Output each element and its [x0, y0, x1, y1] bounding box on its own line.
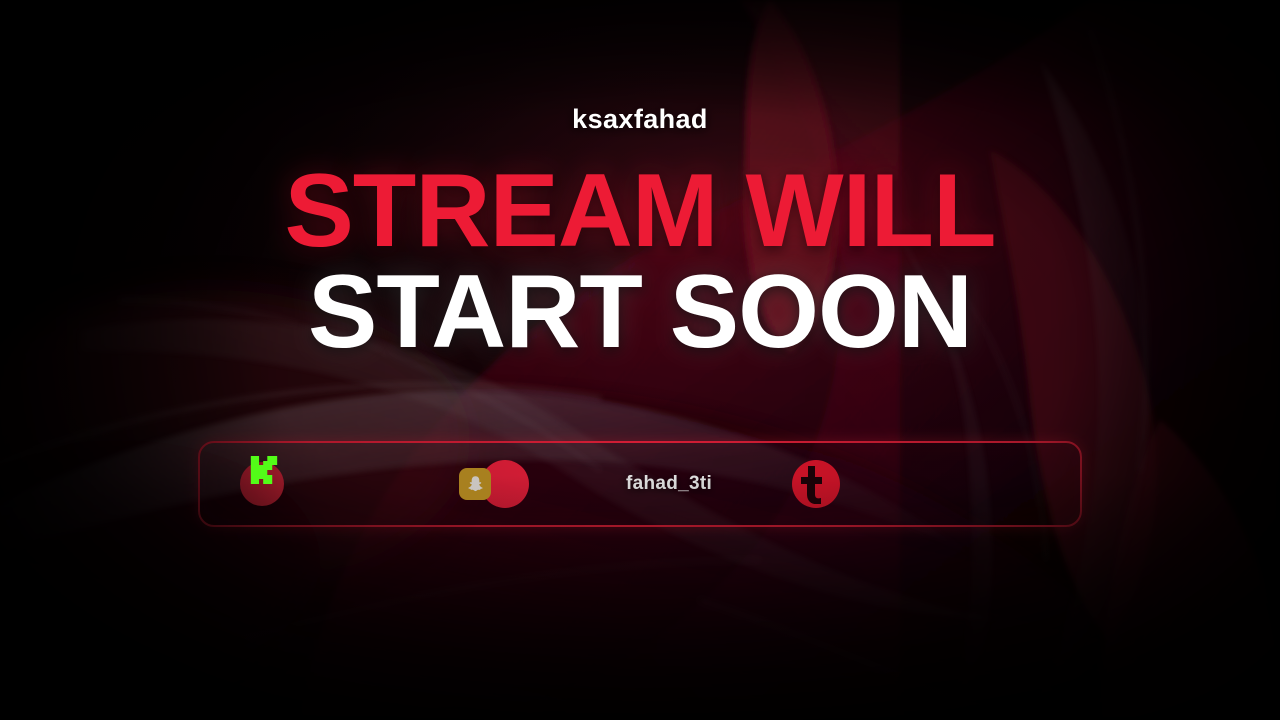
headline-line-1: STREAM WILL — [284, 163, 995, 260]
overlay-content: ksaxfahad STREAM WILL START SOON — [0, 0, 1280, 720]
stream-starting-soon-overlay: ksaxfahad STREAM WILL START SOON — [0, 0, 1280, 720]
page-title: STREAM WILL START SOON — [284, 163, 995, 360]
channel-name: ksaxfahad — [572, 104, 708, 135]
headline-line-2: START SOON — [284, 264, 995, 361]
